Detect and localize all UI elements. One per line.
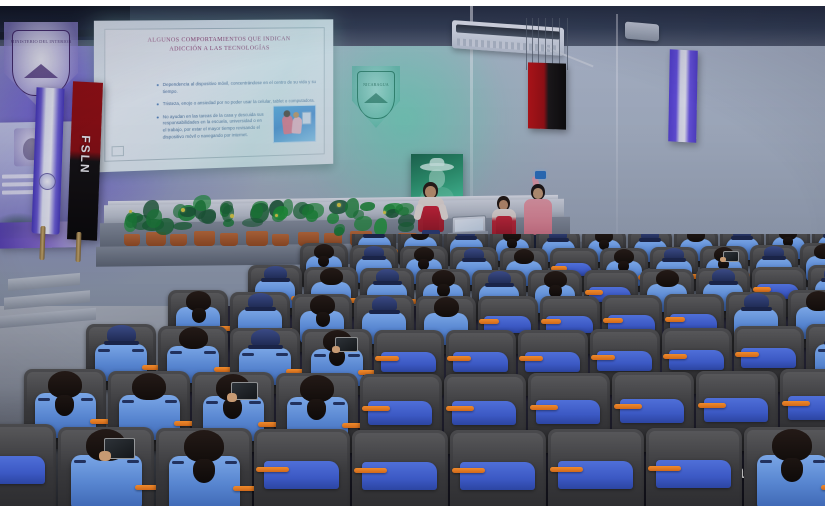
attendee-ponytail xyxy=(318,256,329,267)
attendee-ponytail xyxy=(55,395,74,416)
seat-cushion[interactable] xyxy=(704,398,768,422)
seat-cushion[interactable] xyxy=(453,352,508,372)
slide-title: ALGUNOS COMPORTAMIENTOS QUE INDICAN ADIC… xyxy=(120,35,316,56)
attendee-hair xyxy=(656,270,679,287)
police-cap xyxy=(372,296,397,312)
plant-foliage xyxy=(306,210,318,222)
seat-armrest xyxy=(447,356,471,361)
attendee-hair xyxy=(806,291,825,311)
attendee-ponytail xyxy=(316,312,330,327)
seated-attendee xyxy=(744,427,825,506)
uniform-epaulet xyxy=(81,398,93,401)
fsln-flag-label: FSLN xyxy=(77,135,92,175)
plant-foliage xyxy=(242,218,263,227)
nicaragua-hanging-banner xyxy=(668,49,698,142)
seat-armrest xyxy=(821,485,825,490)
uniform-epaulet xyxy=(813,460,825,463)
seat-armrest xyxy=(585,290,603,295)
seat-armrest xyxy=(541,319,561,324)
seat-armrest xyxy=(663,354,687,359)
seat-cushion[interactable] xyxy=(362,462,437,490)
seat-cushion[interactable] xyxy=(536,400,600,424)
uniform-epaulet xyxy=(314,354,326,357)
plant-foliage xyxy=(395,203,414,215)
police-cap xyxy=(641,234,659,240)
uniform-epaulet xyxy=(38,398,50,401)
uniform-epaulet xyxy=(249,401,261,404)
seat-armrest xyxy=(256,467,289,472)
police-cap xyxy=(764,246,784,258)
police-cap xyxy=(733,234,751,238)
seat-armrest xyxy=(550,467,583,472)
projection-screen: ALGUNOS COMPORTAMIENTOS QUE INDICAN ADIC… xyxy=(94,19,333,172)
uniform-epaulet xyxy=(165,400,177,403)
police-cap xyxy=(107,325,136,343)
plant-flower xyxy=(275,214,278,217)
attendee-hand xyxy=(99,451,111,461)
ceiling-speaker-box xyxy=(625,22,659,42)
plant-flower xyxy=(337,203,341,207)
attendee-hair xyxy=(772,429,812,461)
slide-bullet-3: No ayudan en las tareas de la casa y des… xyxy=(156,112,265,141)
slide-bullet-1: Dependencia al dispositivo móvil, concen… xyxy=(156,79,318,95)
police-cap xyxy=(376,269,399,283)
plant-flower xyxy=(129,210,132,213)
police-cap xyxy=(664,248,684,260)
seat-armrest xyxy=(614,404,642,409)
plant-flower xyxy=(181,208,185,212)
attendee-hair xyxy=(434,297,459,317)
seat-cushion[interactable] xyxy=(741,348,796,368)
plant-foliage xyxy=(173,222,192,230)
uniform-epaulet xyxy=(290,402,302,405)
seat-armrest xyxy=(648,466,681,471)
uniform-epaulet xyxy=(172,461,184,464)
police-cap xyxy=(457,234,475,238)
attendee-ponytail xyxy=(193,459,215,483)
fsln-hanging-banner xyxy=(528,62,566,129)
children-with-device-illustration xyxy=(273,105,316,144)
police-cap xyxy=(488,271,511,285)
seat-armrest xyxy=(698,403,726,408)
seat-cushion[interactable] xyxy=(597,351,652,371)
uniform-epaulet xyxy=(242,353,254,356)
seat-cushion[interactable] xyxy=(620,399,684,423)
uniform-epaulet xyxy=(122,400,134,403)
attendee-hair xyxy=(300,375,334,402)
attendee-hair xyxy=(184,430,224,462)
wall-seam-secondary xyxy=(616,14,618,264)
uniform-epaulet xyxy=(225,461,237,464)
uniform-epaulet xyxy=(348,354,360,357)
slide-corner-mark xyxy=(112,146,124,157)
plant-foliage xyxy=(327,213,339,224)
attendee-hair xyxy=(48,371,82,398)
police-cap xyxy=(364,246,384,258)
plant-foliage xyxy=(398,222,414,232)
seat-cushion[interactable] xyxy=(264,461,339,489)
seat-cushion[interactable] xyxy=(452,401,516,425)
attendee-hand xyxy=(332,346,340,353)
attendee-hair xyxy=(320,268,343,285)
uniform-epaulet xyxy=(98,349,110,352)
seat-armrest xyxy=(452,468,485,473)
police-cap xyxy=(712,269,735,283)
nicaragua-flag-emblem xyxy=(39,172,57,190)
seat-armrest xyxy=(362,406,390,411)
seat-armrest xyxy=(603,318,623,323)
attendee-ponytail xyxy=(192,308,206,323)
slide-content: ALGUNOS COMPORTAMIENTOS QUE INDICAN ADIC… xyxy=(104,27,324,162)
police-cap xyxy=(365,234,383,236)
nicaragua-shield-caption: NICARAGUA xyxy=(352,82,400,87)
uniform-epaulet xyxy=(333,402,345,405)
seat-cushion[interactable] xyxy=(656,460,731,488)
police-cap xyxy=(744,293,769,309)
seat-armrest xyxy=(479,319,499,324)
seat-cushion[interactable] xyxy=(525,352,580,372)
uniform-epaulet xyxy=(276,353,288,356)
uniform-epaulet xyxy=(760,460,772,463)
attendee-ponytail xyxy=(307,399,326,420)
smartphone-icon xyxy=(535,171,546,179)
police-cap xyxy=(251,329,280,347)
seat-cushion[interactable] xyxy=(460,462,535,490)
plant-foliage xyxy=(360,202,375,211)
seat-cushion[interactable] xyxy=(0,456,45,484)
auditorium-photograph: ALGUNOS COMPORTAMIENTOS QUE INDICAN ADIC… xyxy=(0,6,825,506)
seat-armrest xyxy=(530,405,558,410)
screenshot-root: ALGUNOS COMPORTAMIENTOS QUE INDICAN ADIC… xyxy=(0,0,825,516)
uniform-epaulet xyxy=(818,349,825,352)
seated-attendee xyxy=(156,428,252,506)
uniform-epaulet xyxy=(170,351,182,354)
seat-armrest xyxy=(375,356,399,361)
seat-armrest xyxy=(782,401,810,406)
seat-armrest xyxy=(446,406,474,411)
attendee-hand xyxy=(227,393,237,402)
police-cap xyxy=(464,248,484,260)
attendee-hair xyxy=(814,244,825,259)
attendee-hand xyxy=(720,257,726,262)
seated-attendee xyxy=(58,427,154,506)
attendee-ponytail xyxy=(781,458,803,482)
uniform-epaulet xyxy=(127,460,139,463)
fsln-flag: FSLN xyxy=(67,81,103,241)
plant-foliage xyxy=(273,206,288,220)
uniform-epaulet xyxy=(132,349,144,352)
seat-cushion[interactable] xyxy=(381,352,436,372)
police-cap xyxy=(549,234,567,240)
attendee-hair xyxy=(514,249,534,264)
attendee-hair xyxy=(179,327,208,349)
ministry-shield-caption: MINISTERIO DEL INTERIOR xyxy=(4,39,78,44)
uniform-epaulet xyxy=(206,401,218,404)
seat-armrest xyxy=(665,317,685,322)
uniform-epaulet xyxy=(204,351,216,354)
police-cap xyxy=(264,266,287,280)
audience-seating xyxy=(0,234,825,506)
seat-cushion[interactable] xyxy=(368,401,432,425)
attendee-hair xyxy=(132,373,166,400)
police-cap xyxy=(248,293,273,309)
nicaragua-flag xyxy=(31,87,64,234)
seat-armrest xyxy=(591,355,615,360)
seat-armrest xyxy=(354,468,387,473)
seat-cushion[interactable] xyxy=(558,461,633,489)
uniform-epaulet xyxy=(74,460,86,463)
seat-armrest xyxy=(735,352,759,357)
plant-foliage xyxy=(354,216,372,231)
plant-flower xyxy=(383,211,386,214)
plant-flower xyxy=(230,214,234,218)
slide-title-line-2: ADICCIÓN A LAS TECNOLOGÍAS xyxy=(120,44,316,56)
seat-armrest xyxy=(519,356,543,361)
seat-cushion[interactable] xyxy=(669,350,724,370)
seat-cushion[interactable] xyxy=(788,396,825,420)
